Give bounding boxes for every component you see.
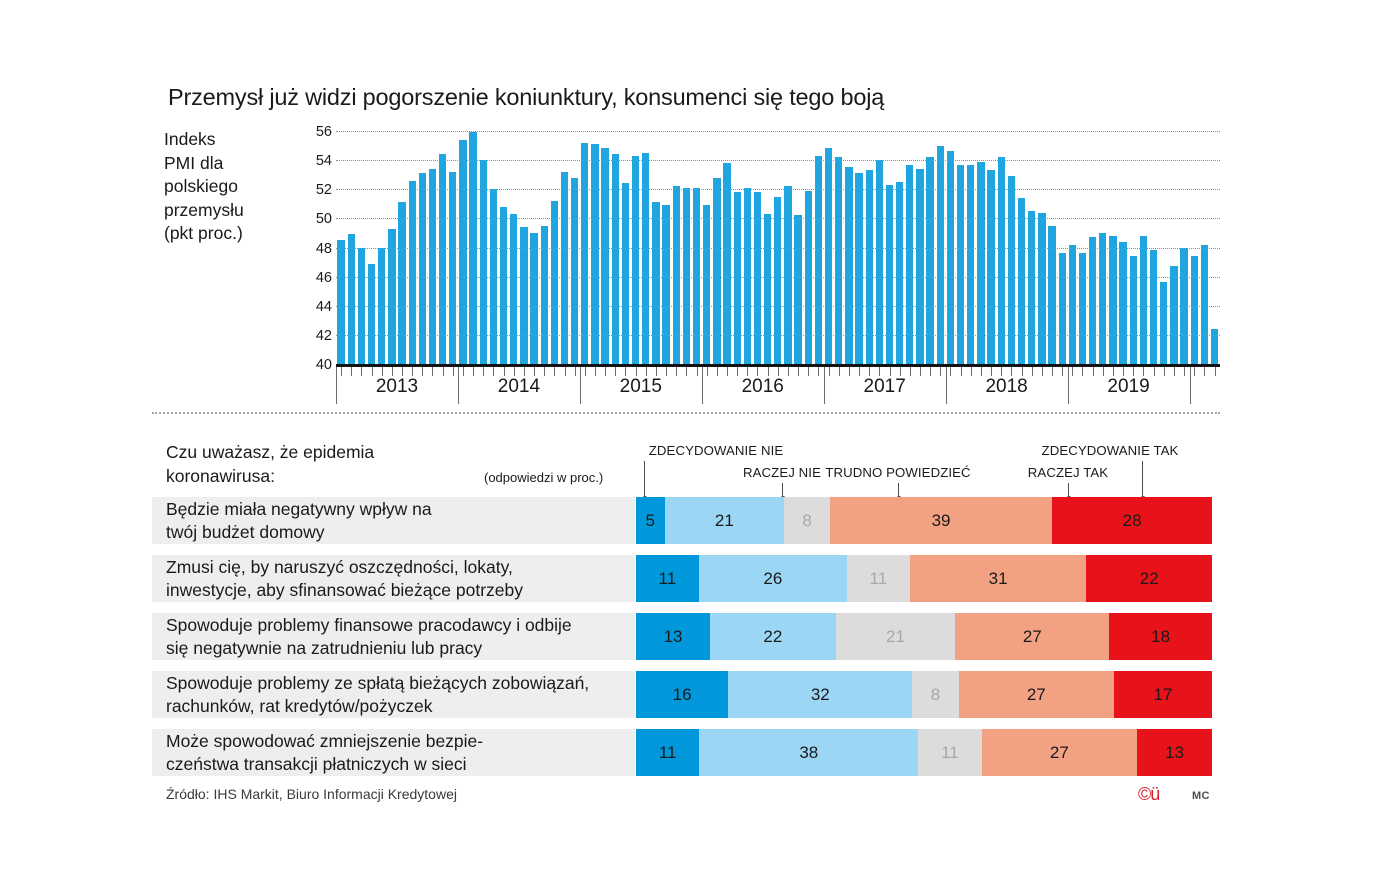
survey-segment-4: 13	[1137, 729, 1212, 776]
pmi-bar	[337, 240, 344, 364]
survey-row-label: Zmusi cię, by naruszyć oszczędności, lok…	[166, 556, 523, 602]
pmi-x-tick	[570, 367, 580, 379]
year-separator	[824, 367, 825, 404]
survey-row: Może spowodować zmniejszenie bezpie- cze…	[152, 729, 1212, 776]
page-title: Przemysł już widzi pogorszenie koniunktu…	[168, 84, 884, 111]
pmi-bar	[926, 157, 933, 364]
pmi-x-tick	[1088, 367, 1098, 379]
infographic-page: Przemysł już widzi pogorszenie koniunktu…	[0, 0, 1400, 873]
y-axis-tick-label: 44	[316, 299, 332, 315]
pmi-bar	[723, 163, 730, 364]
pmi-x-tick	[468, 367, 478, 379]
survey-segment-4: 28	[1052, 497, 1212, 544]
pmi-x-tick	[427, 367, 437, 379]
pmi-bar	[764, 214, 771, 364]
survey-row: Spowoduje problemy finansowe pracodawcy …	[152, 613, 1212, 660]
pmi-x-tick	[1199, 367, 1209, 379]
pmi-bar	[1140, 236, 1147, 364]
survey-segment-1: 22	[710, 613, 835, 660]
survey-segment-2: 11	[918, 729, 981, 776]
pmi-bar	[896, 182, 903, 364]
survey-row-label: Spowoduje problemy ze spłatą bieżących z…	[166, 672, 589, 718]
pmi-bar	[774, 197, 781, 364]
pmi-bar	[1160, 282, 1167, 364]
survey-row: Będzie miała negatywny wpływ na twój bud…	[152, 497, 1212, 544]
pmi-x-tick	[1067, 367, 1077, 379]
survey-segment-3: 27	[955, 613, 1109, 660]
survey-row-bar: 1138112713	[636, 729, 1212, 776]
pmi-x-tick	[1189, 367, 1199, 379]
pmi-bar	[1079, 253, 1086, 364]
pmi-bar	[1201, 245, 1208, 364]
year-label: 2014	[498, 376, 540, 398]
survey-rows: Będzie miała negatywny wpływ na twój bud…	[152, 497, 1212, 787]
pmi-x-tick	[702, 367, 712, 379]
gridline-48: 48	[336, 248, 1220, 249]
legend-label-4: ZDECYDOWANIE TAK	[1042, 443, 1179, 458]
pmi-bar	[1130, 256, 1137, 364]
year-label: 2016	[742, 376, 784, 398]
year-separator	[1068, 367, 1069, 404]
pmi-bar	[541, 226, 548, 364]
pmi-bar	[530, 233, 537, 364]
legend-label-0: ZDECYDOWANIE NIE	[649, 443, 783, 458]
pmi-x-tick	[834, 367, 844, 379]
gridline-56: 56	[336, 131, 1220, 132]
gridline-46: 46	[336, 277, 1220, 278]
pmi-x-tick	[803, 367, 813, 379]
pmi-x-tick	[1027, 367, 1037, 379]
pmi-x-tick	[925, 367, 935, 379]
pmi-x-tick	[448, 367, 458, 379]
legend-label-3: RACZEJ TAK	[1028, 465, 1108, 480]
pmi-x-tick	[356, 367, 366, 379]
pmi-bar	[581, 143, 588, 364]
survey-row: Spowoduje problemy ze spłatą bieżących z…	[152, 671, 1212, 718]
year-separator	[458, 367, 459, 404]
year-separator	[336, 367, 337, 404]
survey-legend: ZDECYDOWANIE NIERACZEJ NIETRUDNO POWIEDZ…	[636, 443, 1212, 498]
pmi-bar	[1191, 256, 1198, 364]
source-note: Źródło: IHS Markit, Biuro Informacji Kre…	[166, 786, 457, 802]
y-axis-tick-label: 48	[316, 241, 332, 257]
survey-segment-3: 27	[959, 671, 1115, 718]
pmi-x-tick	[681, 367, 691, 379]
survey-segment-3: 39	[830, 497, 1052, 544]
pmi-bar	[703, 205, 710, 364]
pmi-bar	[1018, 198, 1025, 364]
pmi-x-tick	[1179, 367, 1189, 379]
pmi-chart: 404244464850525456 201320142015201620172…	[300, 124, 1220, 374]
pmi-x-tick	[712, 367, 722, 379]
pmi-x-tick	[559, 367, 569, 379]
copyright-logo: ©ü	[1138, 784, 1159, 805]
survey-row-label: Może spowodować zmniejszenie bezpie- cze…	[166, 730, 483, 776]
pmi-x-tick	[458, 367, 468, 379]
survey-segment-4: 22	[1086, 555, 1211, 602]
survey-row-label: Będzie miała negatywny wpływ na twój bud…	[166, 498, 432, 544]
pmi-bar	[388, 229, 395, 364]
pmi-x-tick	[1057, 367, 1067, 379]
survey-question: Czu uważasz, że epidemia koronawirusa:	[166, 440, 374, 488]
y-axis-tick-label: 56	[316, 124, 332, 140]
survey-row-label: Spowoduje problemy finansowe pracodawcy …	[166, 614, 572, 660]
pmi-x-tick	[671, 367, 681, 379]
y-axis-tick-label: 50	[316, 211, 332, 227]
pmi-bar	[998, 157, 1005, 364]
pmi-bar	[835, 157, 842, 364]
pmi-x-tick	[1037, 367, 1047, 379]
pmi-x-tick	[1098, 367, 1108, 379]
legend-label-2: TRUDNO POWIEDZIEĆ	[825, 465, 970, 480]
pmi-bar	[612, 154, 619, 364]
pmi-x-tick	[966, 367, 976, 379]
pmi-bar	[459, 140, 466, 364]
pmi-x-tick	[539, 367, 549, 379]
survey-segment-0: 11	[636, 555, 699, 602]
y-axis-tick-label: 42	[316, 328, 332, 344]
survey-segment-0: 16	[636, 671, 728, 718]
author-credit: MC	[1192, 790, 1210, 802]
survey-segment-2: 8	[784, 497, 830, 544]
survey-segment-0: 13	[636, 613, 710, 660]
pmi-bar	[652, 202, 659, 364]
survey-unit-note: (odpowiedzi w proc.)	[484, 470, 603, 485]
year-separator	[1190, 367, 1191, 404]
y-axis-tick-label: 54	[316, 153, 332, 169]
pmi-bar	[439, 154, 446, 364]
pmi-x-tick	[813, 367, 823, 379]
pmi-x-tick	[956, 367, 966, 379]
pmi-bar	[1099, 233, 1106, 364]
pmi-x-tick	[590, 367, 600, 379]
section-divider	[152, 412, 1220, 414]
pmi-bar	[784, 186, 791, 364]
pmi-bar	[1028, 211, 1035, 364]
pmi-bar	[1048, 226, 1055, 364]
pmi-x-tick	[661, 367, 671, 379]
gridline-54: 54	[336, 160, 1220, 161]
survey-segment-1: 32	[728, 671, 912, 718]
pmi-bar	[1069, 245, 1076, 364]
pmi-x-tick	[1077, 367, 1087, 379]
pmi-bar	[1119, 242, 1126, 364]
pmi-x-tick	[915, 367, 925, 379]
pmi-x-tick	[844, 367, 854, 379]
pmi-bar	[480, 160, 487, 364]
pmi-bar	[1059, 253, 1066, 364]
pmi-x-tick	[905, 367, 915, 379]
pmi-bar	[1089, 237, 1096, 364]
pmi-x-tick	[691, 367, 701, 379]
survey-segment-1: 21	[665, 497, 785, 544]
pmi-bar	[642, 153, 649, 364]
pmi-x-tick	[824, 367, 834, 379]
pmi-bar	[591, 144, 598, 364]
pmi-bar	[551, 201, 558, 364]
pmi-x-tick	[549, 367, 559, 379]
pmi-bar	[632, 156, 639, 364]
y-axis-tick-label: 40	[316, 357, 332, 373]
pmi-bar	[713, 178, 720, 364]
pmi-bar	[977, 162, 984, 364]
gridline-44: 44	[336, 306, 1220, 307]
pmi-x-tick	[1169, 367, 1179, 379]
year-separator	[702, 367, 703, 404]
survey-row-bar: 163282717	[636, 671, 1212, 718]
survey-segment-4: 18	[1109, 613, 1212, 660]
legend-leader-line	[1068, 483, 1069, 498]
year-separator	[580, 367, 581, 404]
y-axis-tick-label: 52	[316, 182, 332, 198]
pmi-bar	[794, 215, 801, 364]
pmi-x-tick	[722, 367, 732, 379]
survey-row-bar: 1322212718	[636, 613, 1212, 660]
pmi-x-tick	[945, 367, 955, 379]
survey-segment-3: 27	[982, 729, 1138, 776]
legend-leader-line	[1142, 461, 1143, 498]
pmi-bar	[510, 214, 517, 364]
pmi-bar	[368, 264, 375, 364]
pmi-bar	[1109, 236, 1116, 364]
legend-leader-line	[644, 461, 645, 498]
gridline-52: 52	[336, 189, 1220, 190]
survey-row-bar: 52183928	[636, 497, 1212, 544]
pmi-bar	[1170, 266, 1177, 364]
pmi-bar	[409, 181, 416, 364]
pmi-x-tick	[935, 367, 945, 379]
pmi-bar	[348, 234, 355, 364]
pmi-x-tick	[438, 367, 448, 379]
pmi-x-tick	[1159, 367, 1169, 379]
pmi-bar	[673, 186, 680, 364]
gridline-50: 50	[336, 218, 1220, 219]
survey-segment-0: 11	[636, 729, 699, 776]
pmi-x-tick	[1209, 367, 1219, 379]
pmi-bar	[825, 148, 832, 364]
pmi-bar	[571, 178, 578, 364]
pmi-x-tick	[793, 367, 803, 379]
pmi-bar	[398, 202, 405, 364]
pmi-x-tick	[417, 367, 427, 379]
pmi-bar	[886, 185, 893, 364]
pmi-bar	[937, 146, 944, 364]
pmi-bar	[815, 156, 822, 364]
survey-segment-4: 17	[1114, 671, 1212, 718]
pmi-plot-area: 404244464850525456	[336, 131, 1220, 364]
pmi-bar	[500, 207, 507, 364]
survey-segment-2: 21	[836, 613, 956, 660]
y-axis-tick-label: 46	[316, 270, 332, 286]
survey-segment-1: 38	[699, 729, 918, 776]
pmi-bar	[876, 160, 883, 364]
year-label: 2018	[985, 376, 1027, 398]
year-label: 2013	[376, 376, 418, 398]
pmi-x-tick	[1149, 367, 1159, 379]
legend-leader-line	[782, 483, 783, 498]
pmi-x-tick	[478, 367, 488, 379]
pmi-x-tick	[580, 367, 590, 379]
pmi-x-tick	[976, 367, 986, 379]
pmi-x-tick	[600, 367, 610, 379]
pmi-x-tick	[783, 367, 793, 379]
survey-row: Zmusi cię, by naruszyć oszczędności, lok…	[152, 555, 1212, 602]
pmi-x-tick	[336, 367, 346, 379]
pmi-bar	[947, 151, 954, 364]
legend-label-1: RACZEJ NIE	[743, 465, 821, 480]
pmi-bar	[1150, 250, 1157, 364]
pmi-bar	[1038, 213, 1045, 364]
survey-segment-0: 5	[636, 497, 665, 544]
survey-row-bar: 1126113122	[636, 555, 1212, 602]
pmi-x-tick	[346, 367, 356, 379]
year-separator	[946, 367, 947, 404]
pmi-bar	[601, 148, 608, 364]
year-label: 2015	[620, 376, 662, 398]
survey-segment-2: 11	[847, 555, 910, 602]
legend-leader-line	[898, 483, 899, 498]
pmi-bar	[662, 205, 669, 364]
pmi-x-tick	[1047, 367, 1057, 379]
survey-segment-3: 31	[910, 555, 1087, 602]
year-label: 2017	[864, 376, 906, 398]
year-label: 2019	[1107, 376, 1149, 398]
gridline-42: 42	[336, 335, 1220, 336]
survey-segment-2: 8	[912, 671, 958, 718]
survey-segment-1: 26	[699, 555, 847, 602]
pmi-axis-caption: Indeks PMI dla polskiego przemysłu (pkt …	[164, 128, 304, 246]
pmi-bar	[622, 183, 629, 364]
